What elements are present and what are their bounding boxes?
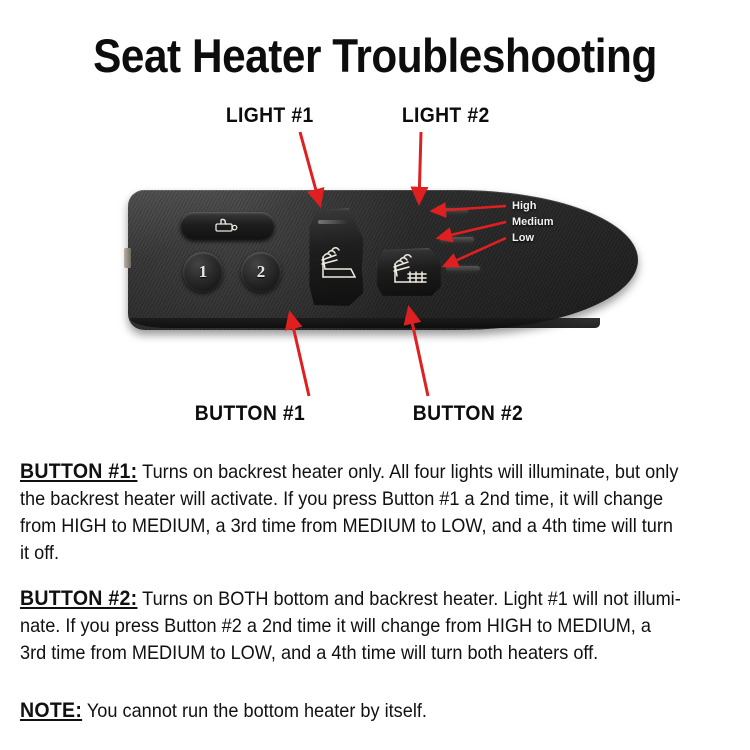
preset-button-2[interactable]: 2 <box>241 252 281 292</box>
page-root: Seat Heater Troubleshooting LIGHT #1 LIG… <box>0 0 750 750</box>
label-medium: Medium <box>512 216 554 228</box>
paragraph-button-1: BUTTON #1: Turns on backrest heater only… <box>20 458 682 567</box>
panel-mount-tab <box>124 248 131 268</box>
panel-bottom-edge <box>130 318 600 328</box>
seat-control-panel: 1 2 <box>128 190 638 330</box>
callout-light-2: LIGHT #2 <box>402 104 490 128</box>
paragraph-button-2-lead: BUTTON #2: <box>20 587 137 610</box>
indicator-light-low <box>446 266 480 271</box>
preset-button-1-label: 1 <box>199 262 208 282</box>
callout-light-1: LIGHT #1 <box>226 104 314 128</box>
preset-button-2-label: 2 <box>257 262 266 282</box>
indicator-light-high <box>434 208 468 213</box>
indicator-light-medium <box>440 237 474 242</box>
paragraph-note-body: You cannot run the bottom heater by itse… <box>82 700 427 722</box>
page-title: Seat Heater Troubleshooting <box>38 28 713 83</box>
paragraph-note: NOTE: You cannot run the bottom heater b… <box>20 697 682 725</box>
backrest-and-bottom-heater-icon <box>386 252 436 292</box>
seat-memory-button[interactable] <box>180 212 275 240</box>
callout-button-2: BUTTON #2 <box>413 402 523 426</box>
preset-button-1[interactable]: 1 <box>183 252 223 292</box>
paragraph-note-lead: NOTE: <box>20 699 82 722</box>
paragraph-button-2: BUTTON #2: Turns on BOTH bottom and back… <box>20 585 682 667</box>
backrest-heater-icon <box>312 244 360 290</box>
heater-button-2[interactable] <box>376 248 442 296</box>
paragraph-button-1-lead: BUTTON #1: <box>20 460 137 483</box>
heater-button-1[interactable] <box>306 208 364 306</box>
button-1-highlight <box>318 220 348 224</box>
callout-button-1: BUTTON #1 <box>195 402 305 426</box>
label-high: High <box>512 200 536 212</box>
panel-body: 1 2 <box>128 190 638 330</box>
seat-memory-icon <box>213 218 243 234</box>
label-low: Low <box>512 232 534 244</box>
